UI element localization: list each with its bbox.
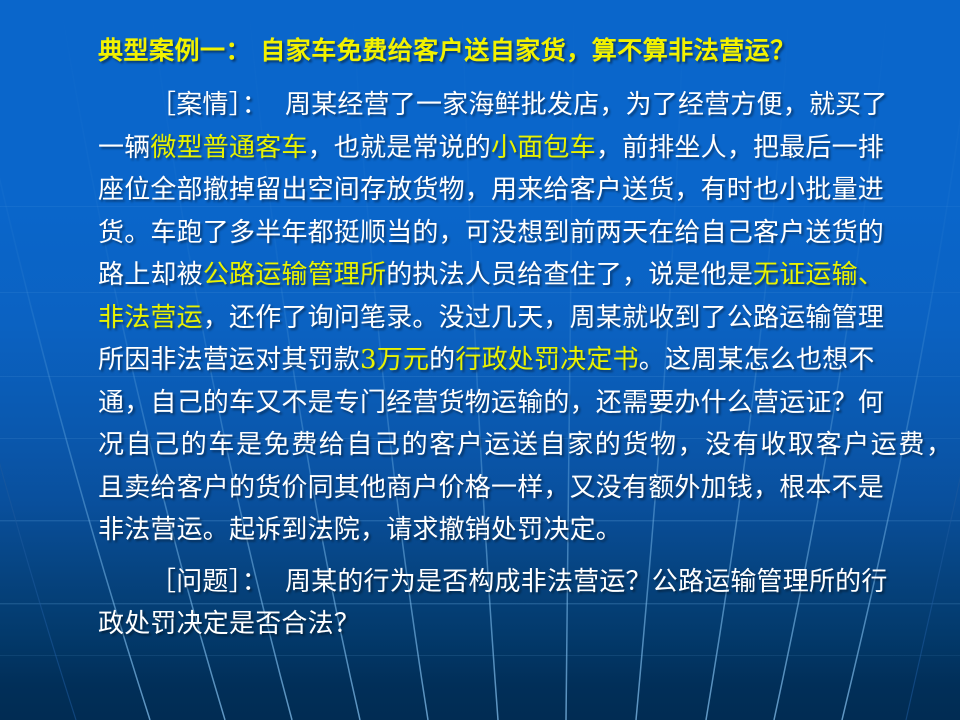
body-line: 货。车跑了多半年都挺顺当的，可没想到前两天在给自己客户送货的 <box>98 212 910 255</box>
slide-title: 典型案例一： 自家车免费给客户送自家货，算不算非法营运？ <box>98 36 908 66</box>
highlight-phrase: 3万元 <box>360 345 429 375</box>
slide-body: ［案情］： 周某经营了一家海鲜批发店，为了经营方便，就买了 一辆微型普通客车，也… <box>98 84 910 646</box>
question-label: ［问题］： <box>150 567 268 597</box>
body-line: 政处罚决定是否合法？ <box>98 603 910 646</box>
highlight-phrase: 非法营运 <box>98 303 203 333</box>
body-line: ［问题］： 周某的行为是否构成非法营运？公路运输管理所的行 <box>98 561 910 604</box>
highlight-phrase: 小面包车 <box>491 133 596 163</box>
body-line: 路上却被公路运输管理所的执法人员给查住了，说是他是无证运输、 <box>98 254 910 297</box>
body-line: 所因非法营运对其罚款3万元的行政处罚决定书。这周某怎么也想不 <box>98 339 910 382</box>
body-line: 非法营运。起诉到法院，请求撤销处罚决定。 <box>98 509 910 552</box>
body-line: 一辆微型普通客车，也就是常说的小面包车，前排坐人，把最后一排 <box>98 127 910 170</box>
body-line: 座位全部撤掉留出空间存放货物，用来给客户送货，有时也小批量进 <box>98 169 910 212</box>
highlight-phrase: 微型普通客车 <box>150 133 307 163</box>
body-line: 非法营运，还作了询问笔录。没过几天，周某就收到了公路运输管理 <box>98 297 910 340</box>
slide-content: 典型案例一： 自家车免费给客户送自家货，算不算非法营运？ ［案情］： 周某经营了… <box>0 0 960 720</box>
body-line: 且卖给客户的货价同其他商户价格一样，又没有额外加钱，根本不是 <box>98 467 910 510</box>
body-line: ［案情］： 周某经营了一家海鲜批发店，为了经营方便，就买了 <box>98 84 910 127</box>
body-line: 通，自己的车又不是专门经营货物运输的，还需要办什么营运证？何 <box>98 382 910 425</box>
highlight-phrase: 行政处罚决定书 <box>455 345 638 375</box>
highlight-phrase: 公路运输管理所 <box>203 260 386 290</box>
paragraph-spacer <box>98 552 910 561</box>
highlight-phrase: 无证运输、 <box>753 260 884 290</box>
slide-canvas: 典型案例一： 自家车免费给客户送自家货，算不算非法营运？ ［案情］： 周某经营了… <box>0 0 960 720</box>
case-label: ［案情］： <box>150 90 268 120</box>
body-line: 况自己的车是免费给自己的客户运送自家的货物，没有收取客户运费， <box>98 424 910 467</box>
